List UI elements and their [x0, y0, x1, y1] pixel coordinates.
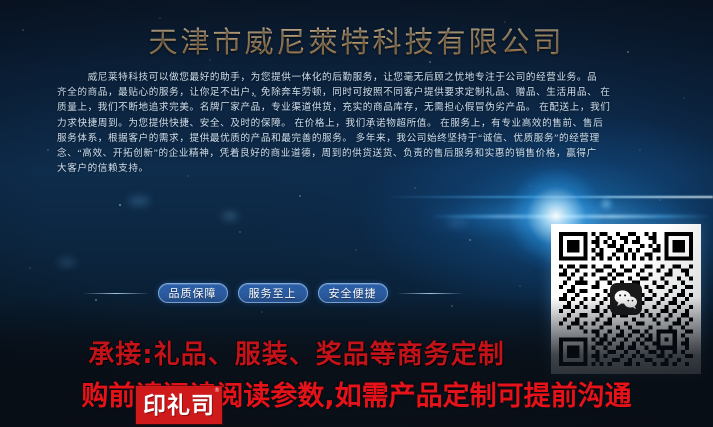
seal-brand-text: 印礼司: [143, 394, 215, 417]
promotional-banner: 天津市威尼萊特科技有限公司 威尼莱特科技可以做您最好的助手，为您提供一体化的后勤…: [0, 0, 713, 427]
promo-headline-primary: 承接:礼品、服装、奖品等商务定制: [0, 334, 713, 371]
brand-seal-logo: 印礼司 ®: [136, 386, 222, 424]
registered-mark: ®: [214, 387, 220, 394]
promo-headline-secondary: 购前请阅读阅读参数,如需产品定制可提前沟通: [0, 374, 713, 413]
